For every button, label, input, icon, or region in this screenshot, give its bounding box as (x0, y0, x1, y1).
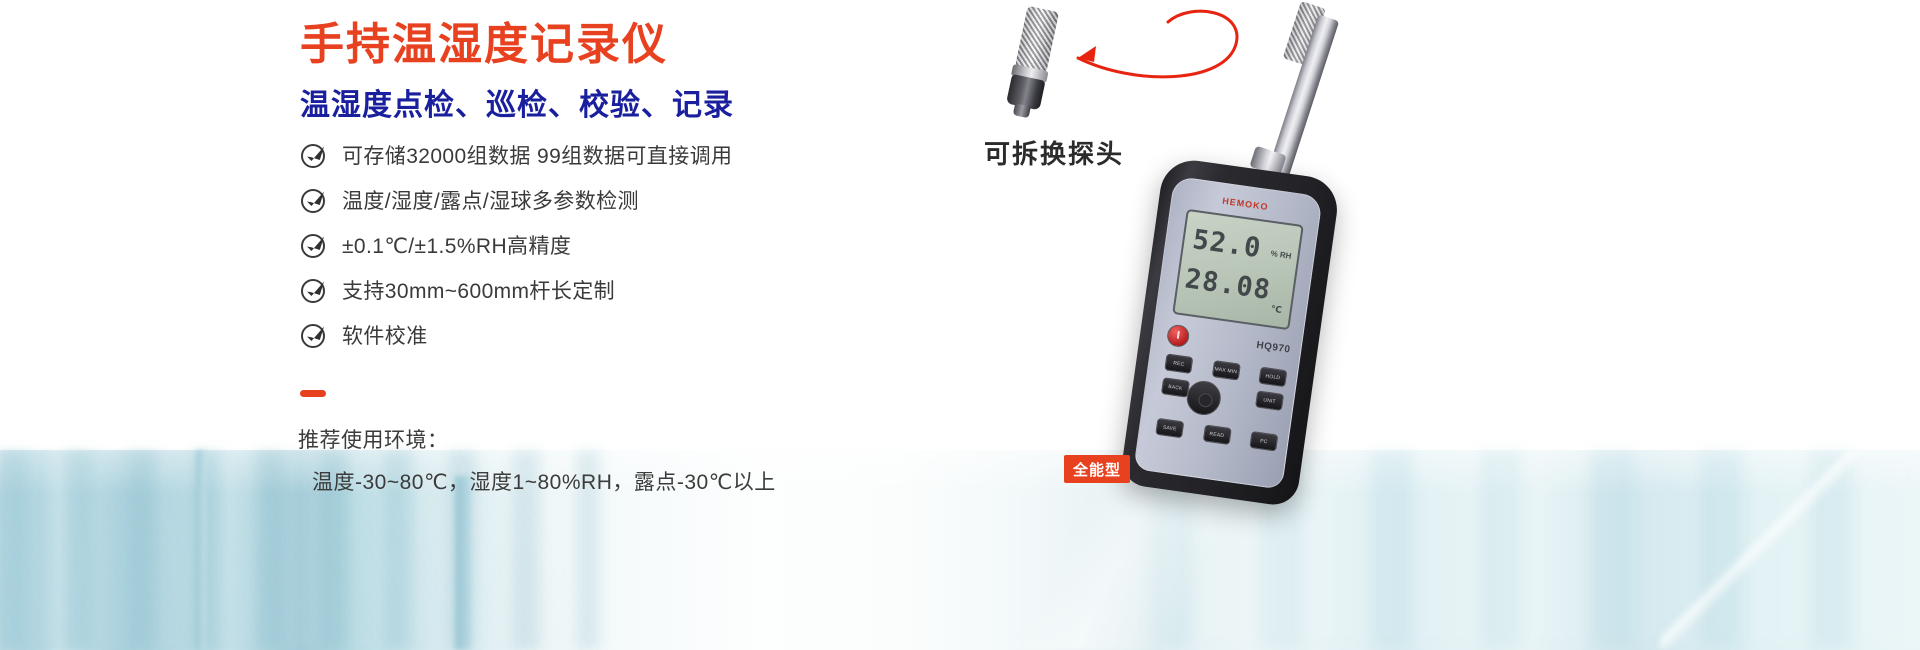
background-shelf-edge-left (196, 450, 206, 650)
product-device: HEMOKO 52.0 % RH 28.08 ℃ HQ970 REC MAX M… (1060, 0, 1390, 510)
environment-detail: 温度-30~80℃，湿度1~80%RH，露点-30℃以上 (298, 462, 776, 504)
key-read[interactable]: READ (1202, 424, 1231, 445)
feature-label: 软件校准 (342, 320, 428, 350)
feature-label: 支持30mm~600mm杆长定制 (342, 275, 615, 305)
power-button[interactable] (1166, 323, 1191, 348)
key-hold[interactable]: HOLD (1258, 367, 1287, 388)
humidity-unit: % RH (1270, 249, 1292, 261)
check-circle-icon (300, 231, 328, 259)
key-unit[interactable]: UNIT (1255, 390, 1284, 411)
feature-label: 可存储32000组数据 99组数据可直接调用 (342, 140, 732, 170)
device-keypad: REC MAX MIN HOLD BACK UNIT SAVE READ PC (1154, 353, 1287, 458)
key-maxmin[interactable]: MAX MIN (1211, 360, 1240, 381)
feature-list: 可存储32000组数据 99组数据可直接调用 温度/湿度/露点/湿球多参数检测 … (300, 132, 732, 357)
check-circle-icon (300, 141, 328, 169)
product-banner: 手持温湿度记录仪 温湿度点检、巡检、校验、记录 可存储32000组数据 99组数… (0, 0, 1920, 650)
device-front-panel: HEMOKO 52.0 % RH 28.08 ℃ HQ970 REC MAX M… (1133, 176, 1323, 490)
device-housing: HEMOKO 52.0 % RH 28.08 ℃ HQ970 REC MAX M… (1119, 156, 1341, 508)
brand-logo: HEMOKO (1222, 196, 1269, 212)
humidity-reading: 52.0 (1191, 224, 1264, 264)
feature-item: 可存储32000组数据 99组数据可直接调用 (300, 132, 732, 177)
check-circle-icon (300, 321, 328, 349)
background-light-streak (1660, 450, 1920, 650)
page-title: 手持温湿度记录仪 (300, 8, 668, 72)
red-dash-divider (300, 390, 326, 397)
feature-item: ±0.1℃/±1.5%RH高精度 (300, 222, 732, 267)
probe-connector-pin (1013, 103, 1031, 118)
feature-item: 温度/湿度/露点/湿球多参数检测 (300, 177, 732, 222)
lcd-display: 52.0 % RH 28.08 ℃ (1172, 209, 1304, 330)
key-save[interactable]: SAVE (1155, 418, 1184, 439)
key-pc[interactable]: PC (1249, 431, 1278, 452)
key-back[interactable]: BACK (1161, 377, 1190, 398)
page-subtitle: 温湿度点检、巡检、校验、记录 (300, 80, 734, 124)
temperature-reading: 28.08 (1183, 263, 1273, 306)
feature-label: 温度/湿度/露点/湿球多参数检测 (342, 185, 639, 215)
feature-item: 软件校准 (300, 312, 732, 357)
feature-item: 支持30mm~600mm杆长定制 (300, 267, 732, 312)
feature-label: ±0.1℃/±1.5%RH高精度 (342, 230, 571, 260)
device-model-label: HQ970 (1256, 340, 1291, 356)
check-circle-icon (300, 186, 328, 214)
background-photo-band (0, 450, 1920, 650)
environment-note: 推荐使用环境： 温度-30~80℃，湿度1~80%RH，露点-30℃以上 (298, 420, 776, 504)
status-badge: 全能型 (1064, 455, 1130, 483)
key-rec[interactable]: REC (1164, 353, 1193, 374)
environment-heading: 推荐使用环境： (298, 420, 776, 462)
temperature-unit: ℃ (1270, 304, 1282, 316)
check-circle-icon (300, 276, 328, 304)
